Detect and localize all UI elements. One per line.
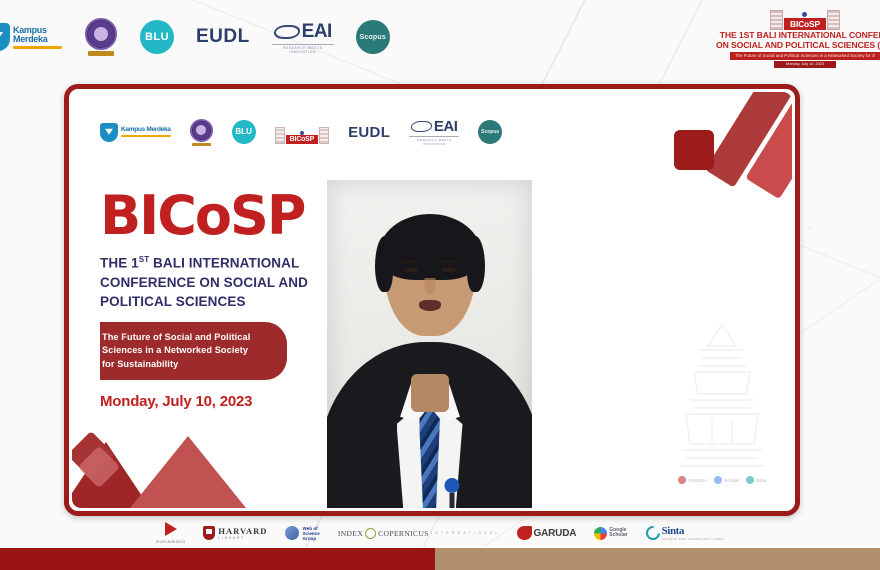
slide-km-underline [121, 135, 171, 137]
slide-logo-row: Kampus Merdeka BLU BICoSP [100, 114, 502, 150]
banner-title-line2: ON SOCIAL AND POLITICAL SCIENCES (BICO [716, 40, 880, 50]
slide-eai-tagline: RESEARCH MEETS INNOVATION [409, 136, 459, 146]
slide-decor-top-right [642, 92, 792, 202]
garuda-label: GARUDA [534, 528, 577, 539]
garuda-bird-icon [517, 526, 532, 540]
kampus-merdeka-icon: Kampus Merdeka [0, 17, 62, 57]
goacademics-logo: GoAcademics [156, 522, 186, 544]
slide-subtitle-line2: CONFERENCE ON SOCIAL AND [100, 275, 308, 290]
banner-subtitle: The Future of Social and Political Scien… [730, 52, 880, 60]
slide-subtitle-ordinal: st [139, 255, 149, 264]
bottom-bar-red-segment [0, 548, 435, 570]
slide-idx-scholar-label: Scholar [724, 478, 739, 483]
copernicus-ring-icon [365, 528, 376, 539]
index-copernicus-label-1: INDEX [338, 529, 363, 538]
kampus-merdeka-badge-icon [0, 23, 10, 51]
sinta-mark-icon [643, 523, 663, 543]
web-of-science-globe-icon [285, 526, 299, 540]
slide-subtitle-line1-a: THE 1 [100, 256, 139, 271]
index-copernicus-caption: I N T E R N A T I O N A L [431, 531, 499, 535]
index-copernicus-logo: INDEX COPERNICUS I N T E R N A T I O N A… [338, 528, 499, 539]
google-scholar-logo: Google Scholar [594, 527, 627, 540]
university-seal-icon [84, 20, 118, 54]
slide-subtitle-line3: POLITICAL SCIENCES [100, 294, 246, 309]
garuda-logo: GARUDA [517, 526, 577, 540]
slide-university-seal-icon [190, 119, 213, 146]
shared-slide-frame[interactable]: Kampus Merdeka BLU BICoSP [64, 84, 800, 516]
seal-circle-icon [85, 18, 117, 50]
sinta-mark-icon [746, 476, 754, 484]
blu-icon: BLU [140, 20, 174, 54]
sinta-logo: Sinta SCIENCE AND TECHNOLOGY INDEX [646, 526, 725, 541]
index-copernicus-label-2: COPERNICUS [378, 529, 429, 538]
slide-idx-sinta: Sinta [746, 476, 766, 484]
slide-eudl-logo: EUDL [348, 124, 390, 141]
wos-label-3: Group [302, 536, 319, 541]
bottom-bar-tan-segment [435, 548, 880, 570]
bottom-bar [0, 548, 880, 570]
kampus-merdeka-label: Kampus Merdeka [13, 26, 62, 44]
harvard-library-logo: HARVARD LIBRARY [203, 526, 267, 540]
slide-canvas: Kampus Merdeka BLU BICoSP [72, 92, 792, 508]
seal-base-icon [88, 51, 114, 56]
slide-eai-logo: EAI RESEARCH MEETS INNOVATION [409, 118, 459, 146]
scopus-label: Scopus [359, 34, 385, 41]
goacademics-label: GoAcademics [156, 539, 186, 544]
banner-date: Monday, July 10, 2023 [774, 61, 836, 68]
banner-pillar-left-icon [770, 10, 783, 30]
eai-logo: EAI RESEARCH MEETS INNOVATION [272, 21, 334, 54]
sinta-label: Sinta [662, 526, 725, 537]
banner-logo-label: BICoSP [784, 18, 826, 30]
slide-km-label: Kampus Merdeka [121, 127, 171, 134]
slide-theme-pill: The Future of Social and Political Scien… [100, 322, 287, 381]
goacademics-play-icon [165, 522, 177, 536]
scopus-icon: Scopus [356, 20, 390, 54]
slide-pillar-right-icon [319, 127, 329, 144]
slide-indexing-logos: GARUDA Scholar Sinta [678, 476, 766, 484]
kampus-merdeka-underline [13, 46, 62, 49]
slide-seal-base-icon [192, 143, 211, 146]
top-partner-logo-strip: Kampus Merdeka BLU EUDL EAI RESEARCH MEE… [0, 12, 390, 62]
speaker-vignette [327, 180, 532, 508]
bottom-indexing-logo-strip: GoAcademics HARVARD LIBRARY Web of Scien… [0, 518, 880, 548]
screen-root: Kampus Merdeka BLU EUDL EAI RESEARCH MEE… [0, 0, 880, 570]
slide-km-badge-icon [100, 123, 118, 142]
slide-decor-bottom-left [72, 418, 322, 508]
eudl-logo: EUDL [196, 26, 250, 48]
slide-bicosp-icon: BICoSP [275, 120, 329, 144]
google-scholar-cap-icon [594, 527, 607, 540]
eai-label: EAI [302, 21, 332, 43]
speaker-video-tile[interactable] [327, 180, 532, 508]
eai-mark-icon [272, 25, 301, 39]
blu-label: BLU [145, 32, 169, 43]
slide-idx-garuda-label: GARUDA [688, 478, 707, 483]
decor-square-icon [674, 130, 714, 170]
web-of-science-logo: Web of Science Group [285, 526, 319, 541]
slide-eai-label: EAI [434, 118, 458, 135]
garuda-mark-icon [678, 476, 686, 484]
banner-title-line1: THE 1ST BALI INTERNATIONAL CONFERE [716, 30, 880, 40]
slide-subtitle-line1-b: BALI INTERNATIONAL [149, 256, 299, 271]
slide-scopus-icon: Scopus [478, 120, 502, 144]
google-scholar-mark-icon [714, 476, 722, 484]
slide-idx-garuda: GARUDA [678, 476, 707, 484]
slide-pillar-left-icon [275, 127, 285, 144]
slide-bicosp-label: BICoSP [286, 135, 318, 144]
decor-triangle-light-icon [130, 436, 246, 508]
slide-idx-google-scholar: Scholar [714, 476, 739, 484]
sinta-caption: SCIENCE AND TECHNOLOGY INDEX [662, 537, 725, 541]
banner-bicosp-logo: BICoSP [716, 4, 880, 30]
conference-banner: BICoSP THE 1ST BALI INTERNATIONAL CONFER… [716, 4, 880, 68]
slide-seal-circle-icon [190, 119, 213, 142]
bali-temple-watermark-icon [676, 320, 768, 470]
eai-tagline: RESEARCH MEETS INNOVATION [272, 44, 334, 54]
slide-kampus-merdeka-icon: Kampus Merdeka [100, 123, 171, 142]
harvard-caption: LIBRARY [218, 536, 267, 540]
slide-scopus-label: Scopus [481, 129, 499, 135]
banner-pillar-right-icon [827, 10, 840, 30]
slide-idx-sinta-label: Sinta [756, 478, 766, 483]
slide-eai-mark-icon [410, 121, 433, 132]
banner-ornament-icon [802, 12, 807, 17]
harvard-label: HARVARD [218, 527, 267, 536]
google-scholar-label-2: Scholar [609, 533, 627, 539]
harvard-shield-icon [203, 526, 215, 540]
slide-blu-icon: BLU [232, 120, 256, 144]
slide-blu-label: BLU [235, 128, 251, 136]
